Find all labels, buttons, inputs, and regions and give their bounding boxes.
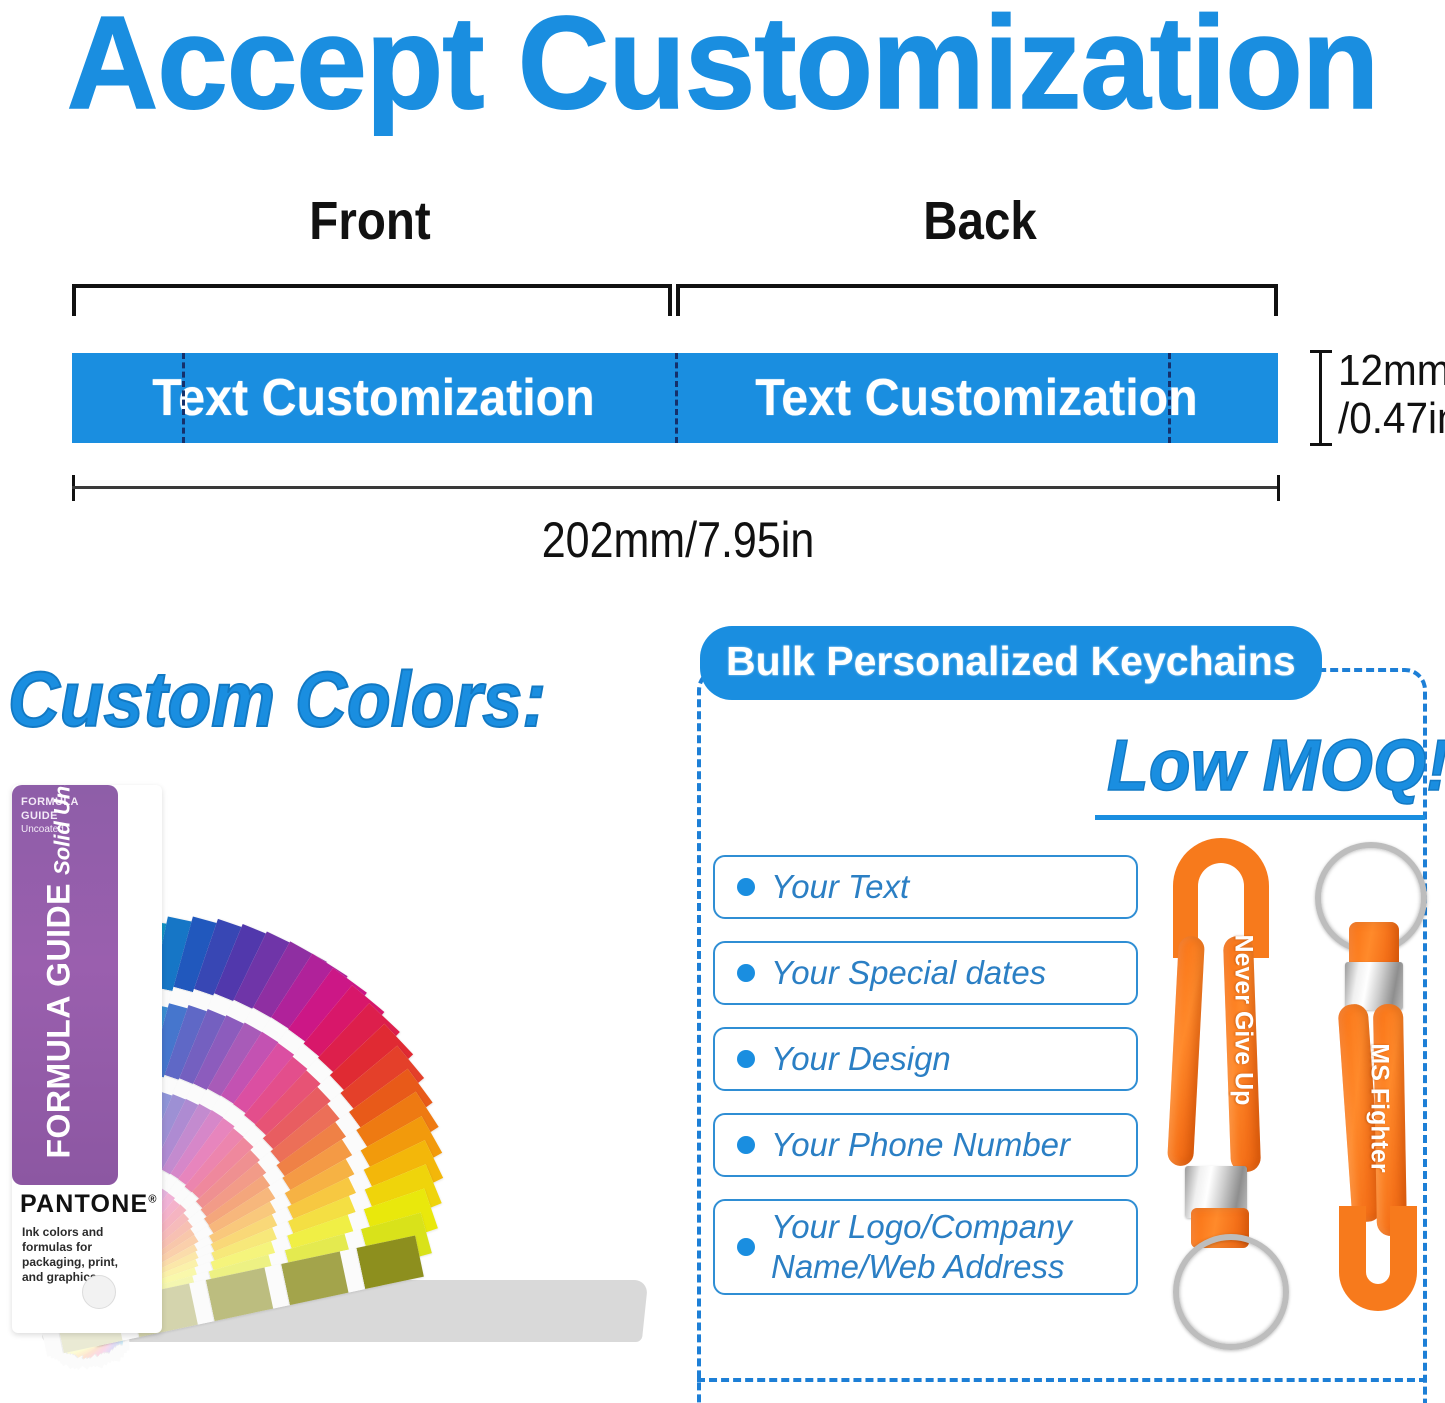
feature-item-label: Your Phone Number — [771, 1125, 1070, 1165]
dashed-divider-right — [1168, 353, 1171, 443]
feature-item[interactable]: Your Logo/Company Name/Web Address — [713, 1199, 1138, 1295]
keychain-right-loop — [1339, 1206, 1417, 1311]
wristband-bar: Text Customization Text Customization — [72, 353, 1278, 443]
bullet-dot-icon — [737, 1238, 755, 1256]
bullet-dot-icon — [737, 1050, 755, 1068]
width-dimension-label: 202mm/7.95in — [95, 512, 1261, 568]
low-moq-heading: Low MOQ! — [1107, 726, 1430, 806]
keychain-left-text: Never Give Up — [1229, 935, 1257, 1106]
height-dimension-mm: 12mm — [1338, 347, 1439, 395]
page-title: Accept Customization — [29, 0, 1416, 138]
dimension-diagram: Front Back Text Customization Text Custo… — [0, 190, 1445, 560]
width-dimension-line — [72, 475, 1280, 501]
keychain-left-split-ring-icon — [1173, 1234, 1289, 1350]
pantone-fan-deck: FORMULA GUIDE Uncoated FORMULA GUIDESoli… — [0, 785, 680, 1403]
custom-colors-heading: Custom Colors: — [8, 655, 546, 743]
customization-feature-list: Your TextYour Special datesYour DesignYo… — [713, 855, 1138, 1317]
pantone-logo: PANTONE® — [20, 1190, 158, 1219]
height-line — [1319, 350, 1322, 446]
keychain-never-give-up: Never Give Up — [1165, 836, 1295, 1376]
back-label: Back — [822, 190, 1139, 252]
keychain-right-text: MS Fighter — [1366, 1043, 1394, 1172]
fan-deck-pivot-knob — [82, 1275, 116, 1309]
width-cap-right — [1277, 475, 1280, 501]
front-bracket — [72, 284, 672, 316]
back-bracket — [676, 284, 1278, 316]
dashed-divider-left — [182, 353, 185, 443]
height-dimension-in: /0.47in — [1338, 395, 1439, 443]
bullet-dot-icon — [737, 878, 755, 896]
bullet-dot-icon — [737, 964, 755, 982]
pantone-cover-vertical-line2: Solid Uncoated — [50, 785, 76, 875]
pantone-cover-vertical-text: FORMULA GUIDESolid Uncoated — [41, 829, 78, 1159]
registered-mark-icon: ® — [148, 1194, 157, 1206]
feature-item[interactable]: Your Text — [713, 855, 1138, 919]
keychain-photos: Never Give Up MS Fighter — [1165, 836, 1427, 1376]
feature-item-label: Your Logo/Company Name/Web Address — [771, 1207, 1072, 1287]
feature-item-label: Your Text — [771, 867, 909, 907]
front-label: Front — [212, 190, 529, 252]
low-moq-underline — [1095, 815, 1425, 820]
feature-item[interactable]: Your Phone Number — [713, 1113, 1138, 1177]
keychain-ms-fighter: MS Fighter — [1287, 836, 1427, 1376]
feature-item[interactable]: Your Special dates — [713, 941, 1138, 1005]
keychain-right-ferrule — [1345, 962, 1403, 1010]
feature-item-label: Your Special dates — [771, 953, 1046, 993]
bullet-dot-icon — [737, 1136, 755, 1154]
bulk-personalized-keychains-badge: Bulk Personalized Keychains — [700, 626, 1322, 700]
pantone-cover-vertical-line1: FORMULA GUIDE — [41, 883, 78, 1159]
feature-item[interactable]: Your Design — [713, 1027, 1138, 1091]
feature-item-label: Your Design — [771, 1039, 951, 1079]
width-line — [72, 486, 1280, 489]
front-text-customization: Text Customization — [93, 370, 654, 426]
height-cap-bottom — [1310, 443, 1332, 446]
dashed-divider-center — [675, 353, 678, 443]
panel-bottom-border — [697, 1378, 1427, 1382]
keychain-left-strap-a — [1167, 935, 1205, 1166]
height-dimension-line — [1310, 350, 1332, 446]
pantone-cover: FORMULA GUIDE Uncoated FORMULA GUIDESoli… — [12, 785, 118, 1185]
height-dimension-label: 12mm /0.47in — [1338, 347, 1439, 443]
pantone-brand-text: PANTONE — [20, 1190, 148, 1218]
back-text-customization: Text Customization — [696, 370, 1257, 426]
